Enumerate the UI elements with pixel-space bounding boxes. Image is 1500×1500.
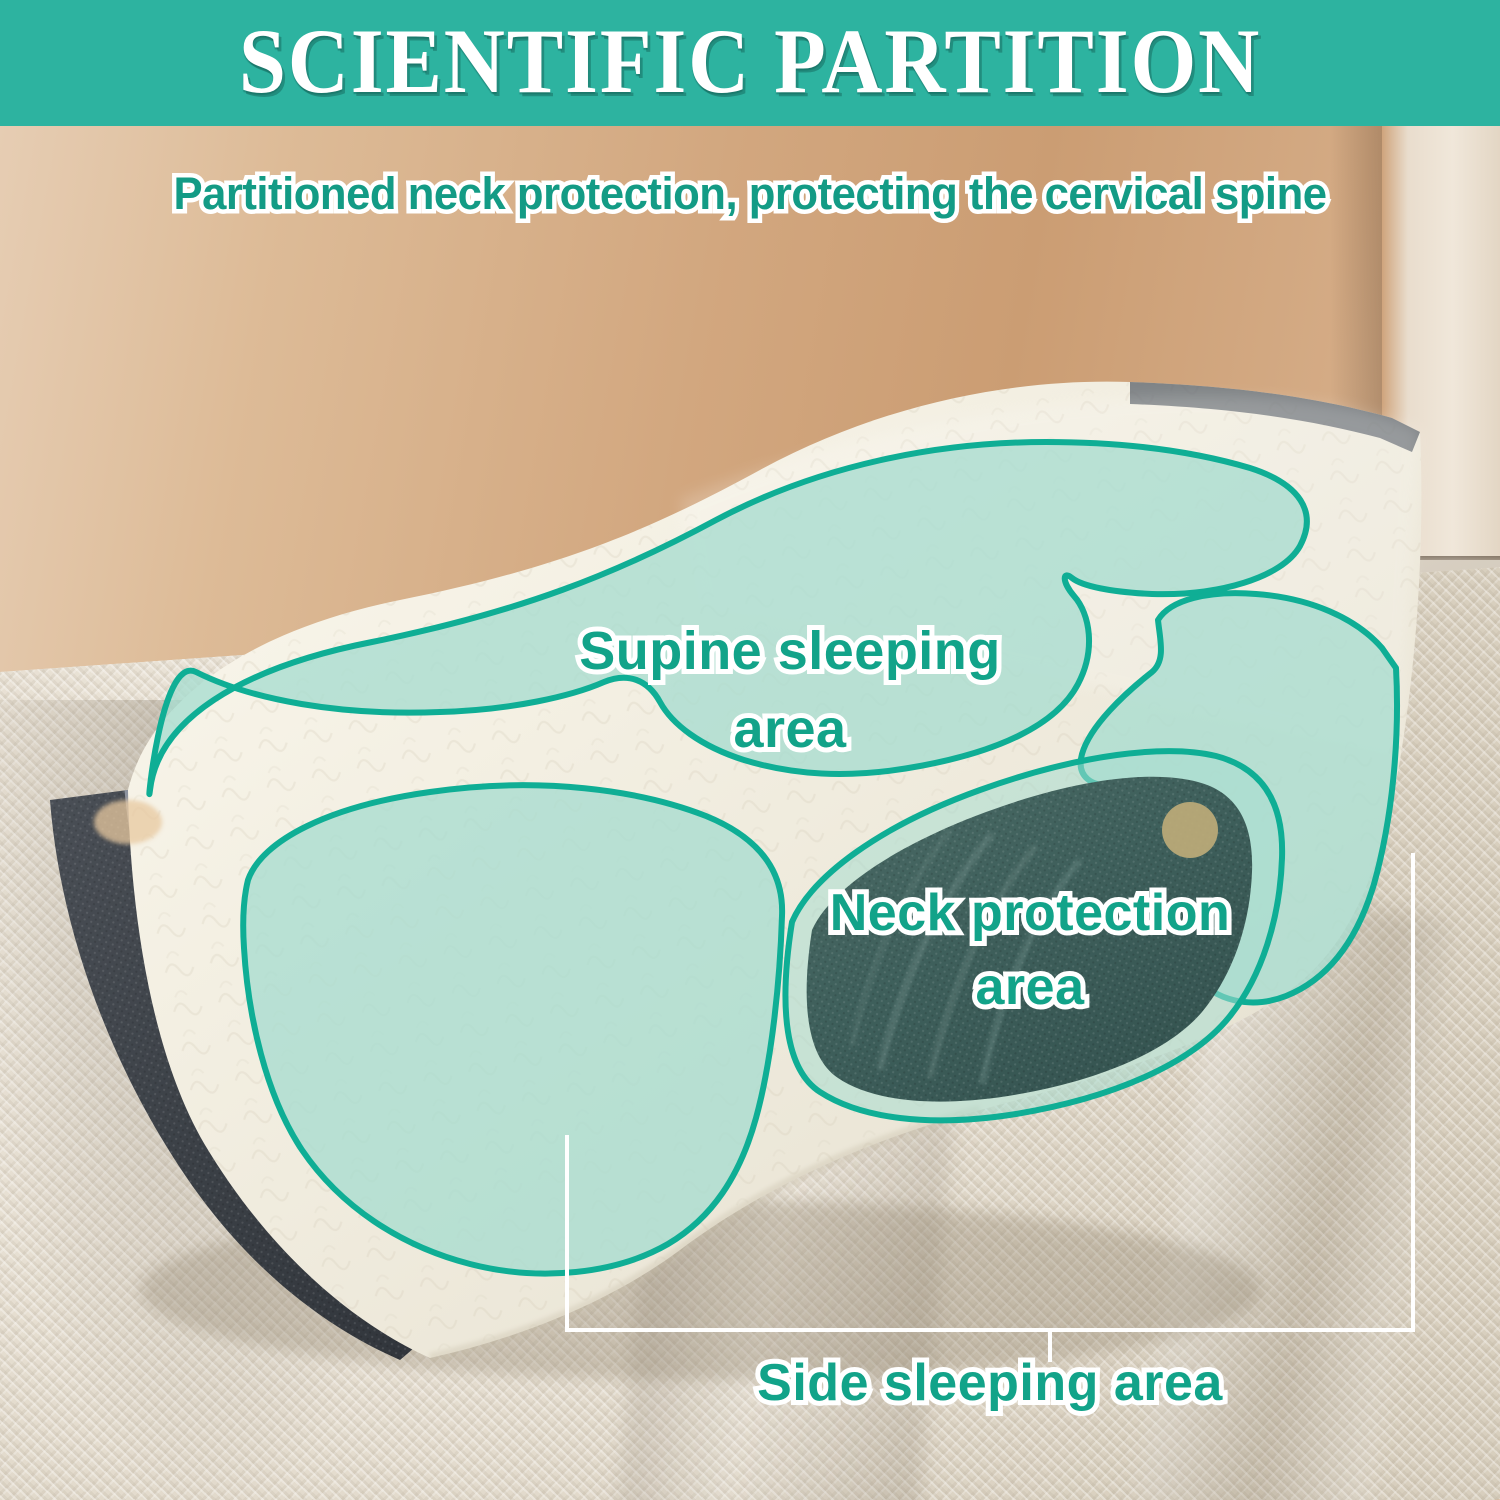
fabric-marker-dot [1162,802,1218,858]
fabric-smudge [94,800,162,844]
callout-label-side-sleeping-area: Side sleeping area [640,1350,1340,1416]
page-title: SCIENTIFIC PARTITION [60,8,1440,114]
infographic-canvas: SCIENTIFIC PARTITION Partitioned neck pr… [0,0,1500,1500]
callout-label-neck-protection-area: Neck protection area [740,876,1320,1024]
callout-label-supine-sleeping-area: Supine sleeping area [430,612,1150,768]
page-subtitle: Partitioned neck protection, protecting … [23,165,1478,223]
